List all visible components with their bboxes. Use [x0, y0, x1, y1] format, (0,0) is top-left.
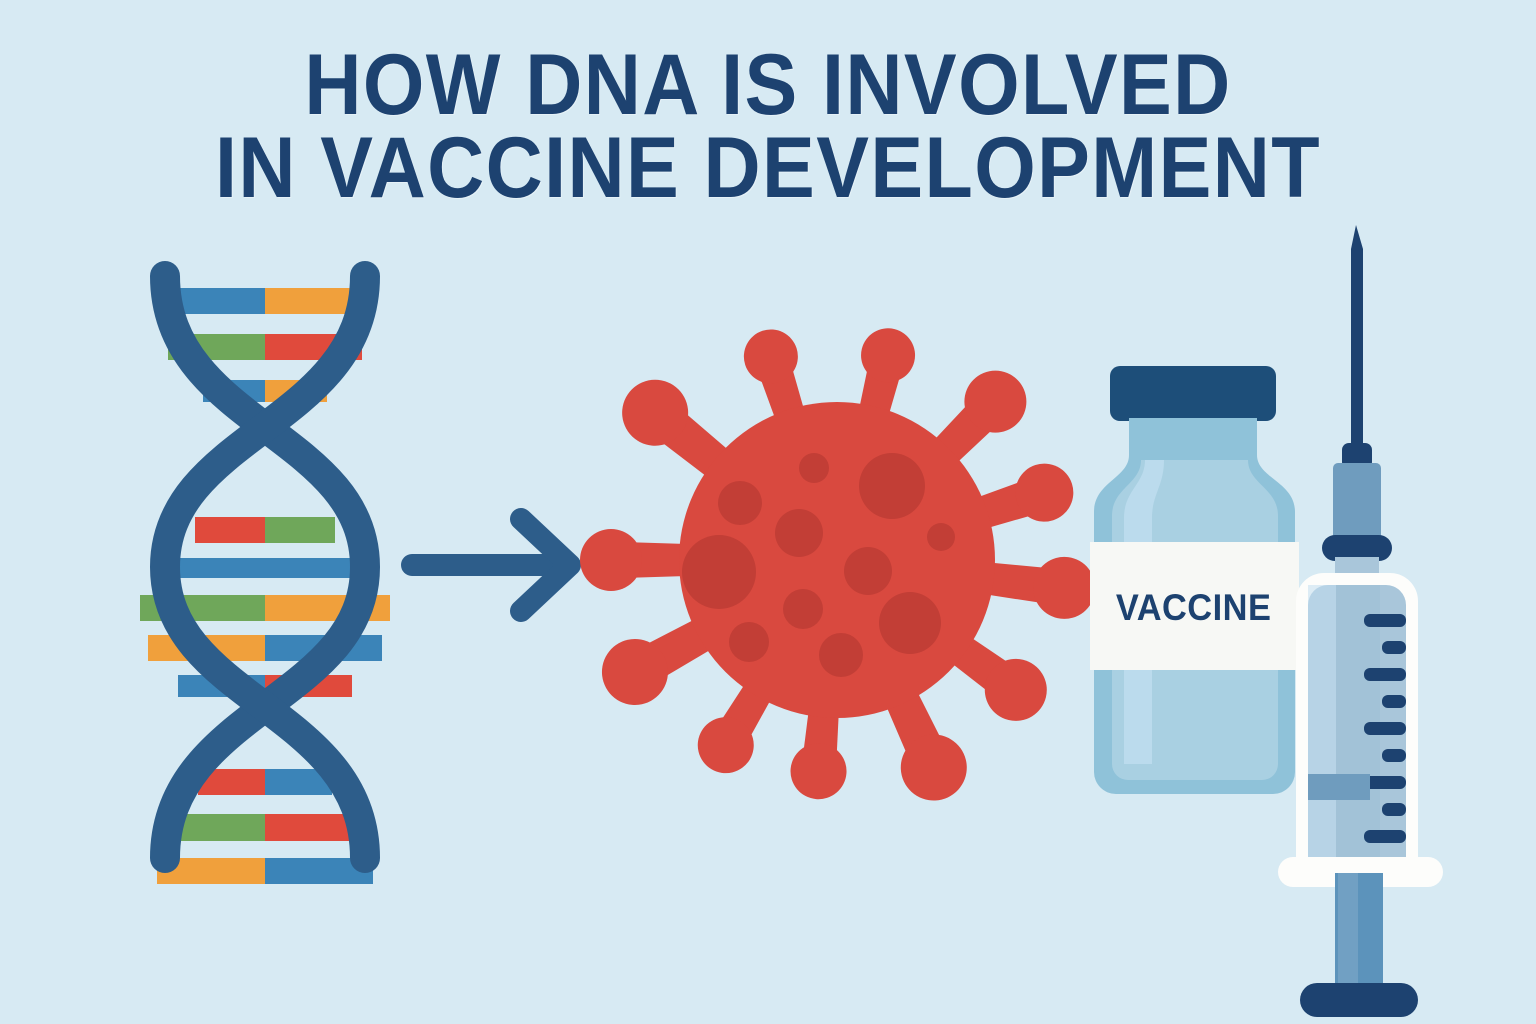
syringe-graduation-mark: [1364, 830, 1406, 843]
page-title: HOW DNA IS INVOLVED IN VACCINE DEVELOPME…: [0, 44, 1536, 211]
syringe-barrel-highlight: [1308, 585, 1336, 877]
syringe-graduation-mark: [1364, 722, 1406, 735]
dna-double-helix-icon: [110, 262, 420, 872]
title-line-1: HOW DNA IS INVOLVED: [61, 44, 1474, 127]
dna-base-pair: [158, 288, 372, 314]
syringe-lower-svg: [1278, 873, 1443, 1024]
virus-dot: [799, 453, 829, 483]
dna-base-pair: [152, 558, 378, 578]
syringe-graduation-mark: [1382, 749, 1406, 762]
dna-svg: [110, 262, 420, 872]
syringe-plunger-seal: [1308, 774, 1370, 800]
virus-dot: [879, 592, 941, 654]
virus-dot: [819, 633, 863, 677]
dna-base-pair: [166, 814, 364, 841]
virus-dot: [859, 453, 925, 519]
syringe-graduation-mark: [1382, 641, 1406, 654]
virus-dot: [783, 589, 823, 629]
infographic-poster: HOW DNA IS INVOLVED IN VACCINE DEVELOPME…: [0, 0, 1536, 1024]
dna-base-pair: [157, 858, 373, 884]
virus-dot: [718, 481, 762, 525]
virus-spike: [788, 707, 852, 802]
vaccine-vial-icon: VACCINE: [1082, 360, 1307, 805]
syringe-icon: [1278, 205, 1443, 875]
virus-dot: [775, 509, 823, 557]
virus-dot: [729, 622, 769, 662]
virus-dot: [927, 523, 955, 551]
title-line-2: IN VACCINE DEVELOPMENT: [61, 127, 1474, 210]
syringe-graduation-mark: [1364, 668, 1406, 681]
syringe-plunger-rod-highlight: [1338, 873, 1358, 991]
virus-spike: [580, 529, 687, 591]
vial-svg: VACCINE: [1082, 360, 1307, 805]
dna-base-pair: [195, 517, 335, 543]
syringe-graduation-mark: [1364, 776, 1406, 789]
syringe-thumb-rest: [1300, 983, 1418, 1017]
virus-svg: [592, 295, 1082, 825]
vial-cap: [1110, 366, 1276, 421]
vial-label-text: VACCINE: [1116, 587, 1272, 628]
virus-dot: [844, 547, 892, 595]
syringe-needle: [1351, 225, 1363, 445]
syringe-svg: [1278, 205, 1443, 875]
virus-dot: [682, 535, 756, 609]
syringe-graduation-mark: [1364, 614, 1406, 627]
syringe-graduation-mark: [1382, 695, 1406, 708]
dna-base-pair: [198, 769, 332, 795]
virus-icon: [592, 295, 1082, 825]
syringe-graduation-mark: [1382, 803, 1406, 816]
